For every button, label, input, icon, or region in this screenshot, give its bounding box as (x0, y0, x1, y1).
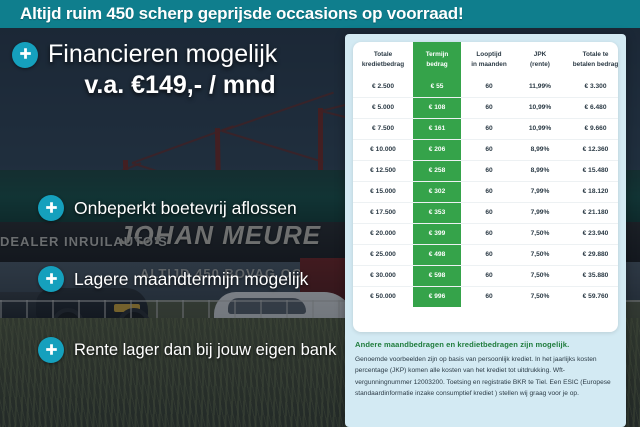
financing-hero-line2: v.a. €149,- / mnd (12, 71, 348, 100)
cell-totaal: € 12.360 (563, 139, 618, 160)
column-header-totale-te-betalen: Totale tebetalen bedrag (563, 42, 618, 77)
benefit-item-2: Rente lager dan bij jouw eigen bank (38, 337, 336, 363)
cell-termijnbedrag: € 55 (413, 77, 461, 98)
cell-termijnbedrag: € 996 (413, 286, 461, 307)
cell-totaal: € 23.940 (563, 223, 618, 244)
cell-kredietbedrag: € 20.000 (353, 223, 413, 244)
table-row: € 17.500€ 353607,99%€ 21.180 (353, 202, 618, 223)
table-row: € 30.000€ 598607,50%€ 35.880 (353, 265, 618, 286)
cell-looptijd: 60 (461, 160, 517, 181)
promo-banner: JOHAN MEURE DEALER INRUILAUTO'S ALTIJD 4… (0, 0, 640, 427)
cell-kredietbedrag: € 10.000 (353, 139, 413, 160)
table-row: € 25.000€ 498607,50%€ 29.880 (353, 244, 618, 265)
benefit-item-1: Lagere maandtermijn mogelijk (38, 266, 308, 292)
cell-looptijd: 60 (461, 77, 517, 98)
benefit-label: Onbeperkt boetevrij aflossen (74, 198, 297, 219)
plus-icon (38, 337, 64, 363)
cell-looptijd: 60 (461, 202, 517, 223)
cell-jpk: 8,99% (517, 160, 563, 181)
column-header-termijn-bedrag: Termijnbedrag (413, 42, 461, 77)
headline-text: Altijd ruim 450 scherp geprijsde occasio… (20, 4, 463, 24)
benefits-column: Financieren mogelijk v.a. €149,- / mnd O… (0, 28, 348, 427)
cell-looptijd: 60 (461, 181, 517, 202)
cell-kredietbedrag: € 12.500 (353, 160, 413, 181)
cell-jpk: 10,99% (517, 97, 563, 118)
cell-jpk: 7,50% (517, 286, 563, 307)
cell-kredietbedrag: € 17.500 (353, 202, 413, 223)
cell-totaal: € 15.480 (563, 160, 618, 181)
legal-notes-title: Andere maandbedragen en kredietbedragen … (355, 340, 617, 349)
cell-kredietbedrag: € 50.000 (353, 286, 413, 307)
cell-termijnbedrag: € 498 (413, 244, 461, 265)
cell-termijnbedrag: € 258 (413, 160, 461, 181)
cell-termijnbedrag: € 302 (413, 181, 461, 202)
cell-looptijd: 60 (461, 244, 517, 265)
column-header-totale-kredietbedrag: Totalekredietbedrag (353, 42, 413, 77)
benefit-item-0: Onbeperkt boetevrij aflossen (38, 195, 297, 221)
cell-kredietbedrag: € 25.000 (353, 244, 413, 265)
headline-banner: Altijd ruim 450 scherp geprijsde occasio… (0, 0, 640, 28)
financing-hero-line1: Financieren mogelijk (48, 40, 277, 69)
cell-kredietbedrag: € 2.500 (353, 77, 413, 98)
rate-table: Totalekredietbedrag Termijnbedrag Loopti… (353, 42, 618, 307)
column-header-looptijd: Looptijdin maanden (461, 42, 517, 77)
table-row: € 50.000€ 996607,50%€ 59.760 (353, 286, 618, 307)
cell-totaal: € 18.120 (563, 181, 618, 202)
legal-notes: Andere maandbedragen en kredietbedragen … (355, 340, 617, 399)
cell-jpk: 11,99% (517, 77, 563, 98)
table-row: € 2.500€ 556011,99%€ 3.300 (353, 77, 618, 98)
cell-totaal: € 6.480 (563, 97, 618, 118)
cell-jpk: 8,99% (517, 139, 563, 160)
cell-jpk: 7,99% (517, 181, 563, 202)
table-header-row: Totalekredietbedrag Termijnbedrag Loopti… (353, 42, 618, 77)
table-row: € 10.000€ 206608,99%€ 12.360 (353, 139, 618, 160)
cell-jpk: 7,50% (517, 223, 563, 244)
table-row: € 5.000€ 1086010,99%€ 6.480 (353, 97, 618, 118)
cell-totaal: € 9.660 (563, 118, 618, 139)
cell-looptijd: 60 (461, 118, 517, 139)
cell-looptijd: 60 (461, 265, 517, 286)
rate-table-body: € 2.500€ 556011,99%€ 3.300 € 5.000€ 1086… (353, 77, 618, 307)
benefit-label: Rente lager dan bij jouw eigen bank (74, 341, 336, 360)
table-row: € 15.000€ 302607,99%€ 18.120 (353, 181, 618, 202)
financing-info-panel: Totalekredietbedrag Termijnbedrag Loopti… (345, 34, 626, 427)
cell-kredietbedrag: € 5.000 (353, 97, 413, 118)
cell-jpk: 7,50% (517, 265, 563, 286)
table-row: € 7.500€ 1616010,99%€ 9.660 (353, 118, 618, 139)
cell-termijnbedrag: € 399 (413, 223, 461, 244)
cell-kredietbedrag: € 15.000 (353, 181, 413, 202)
rate-table-card: Totalekredietbedrag Termijnbedrag Loopti… (353, 42, 618, 332)
cell-totaal: € 59.760 (563, 286, 618, 307)
cell-looptijd: 60 (461, 223, 517, 244)
cell-termijnbedrag: € 206 (413, 139, 461, 160)
cell-jpk: 7,50% (517, 244, 563, 265)
cell-totaal: € 3.300 (563, 77, 618, 98)
financing-hero: Financieren mogelijk v.a. €149,- / mnd (12, 40, 348, 100)
cell-kredietbedrag: € 30.000 (353, 265, 413, 286)
column-header-jpk: JPK(rente) (517, 42, 563, 77)
cell-totaal: € 35.880 (563, 265, 618, 286)
benefit-label: Lagere maandtermijn mogelijk (74, 269, 308, 290)
cell-looptijd: 60 (461, 97, 517, 118)
cell-jpk: 10,99% (517, 118, 563, 139)
table-row: € 12.500€ 258608,99%€ 15.480 (353, 160, 618, 181)
cell-looptijd: 60 (461, 286, 517, 307)
cell-kredietbedrag: € 7.500 (353, 118, 413, 139)
plus-icon (12, 42, 38, 68)
cell-jpk: 7,99% (517, 202, 563, 223)
cell-looptijd: 60 (461, 139, 517, 160)
plus-icon (38, 266, 64, 292)
cell-termijnbedrag: € 598 (413, 265, 461, 286)
legal-notes-body: Genoemde voorbeelden zijn op basis van p… (355, 354, 617, 399)
cell-termijnbedrag: € 161 (413, 118, 461, 139)
table-row: € 20.000€ 399607,50%€ 23.940 (353, 223, 618, 244)
cell-termijnbedrag: € 353 (413, 202, 461, 223)
cell-termijnbedrag: € 108 (413, 97, 461, 118)
plus-icon (38, 195, 64, 221)
cell-totaal: € 21.180 (563, 202, 618, 223)
cell-totaal: € 29.880 (563, 244, 618, 265)
